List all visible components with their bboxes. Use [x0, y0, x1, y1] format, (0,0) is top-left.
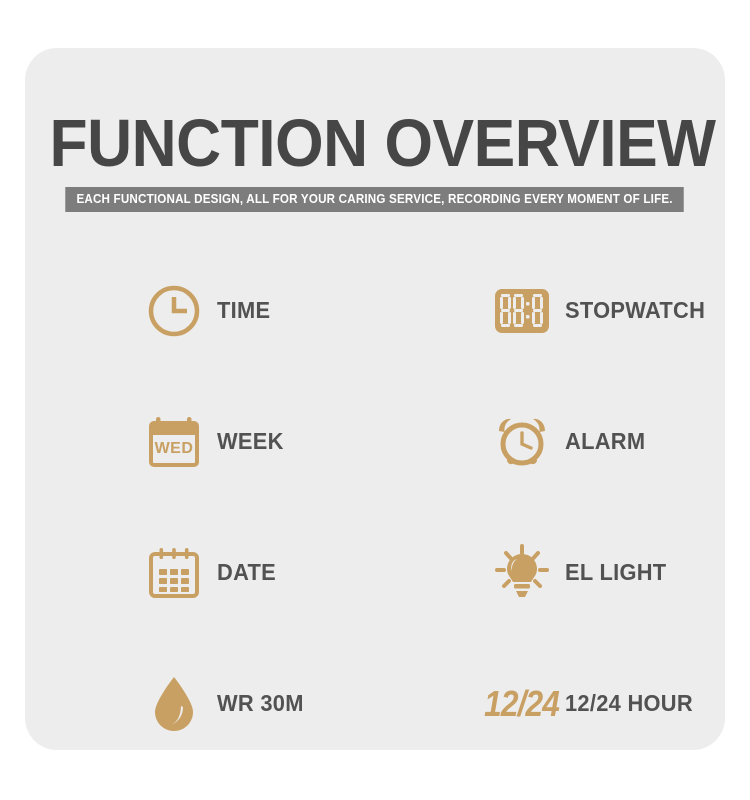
feature-item-el-light: EL LIGHT — [375, 507, 725, 638]
twelve-twentyfour-icon-text: 12/24 — [485, 686, 560, 722]
clock-icon — [145, 282, 203, 340]
feature-label: WR 30M — [217, 690, 304, 717]
function-overview-page: FUNCTION OVERVIEW EACH FUNCTIONAL DESIGN… — [0, 0, 750, 800]
feature-item-time: TIME — [25, 245, 375, 376]
page-title: FUNCTION OVERVIEW — [50, 110, 701, 177]
feature-item-week: WED WEEK — [25, 376, 375, 507]
lightbulb-icon — [493, 544, 551, 602]
alarm-clock-icon — [493, 413, 551, 471]
feature-label: 12/24 HOUR — [565, 690, 693, 717]
feature-grid: TIME — [25, 245, 725, 769]
feature-item-alarm: ALARM — [375, 376, 725, 507]
feature-label: TIME — [217, 297, 270, 324]
feature-item-water-resistance: WR 30M — [25, 638, 375, 769]
feature-card: FUNCTION OVERVIEW EACH FUNCTIONAL DESIGN… — [25, 48, 725, 750]
feature-label: STOPWATCH — [565, 297, 705, 324]
calendar-date-icon — [145, 544, 203, 602]
svg-text:WED: WED — [155, 440, 194, 457]
water-drop-icon — [145, 675, 203, 733]
feature-item-12-24-hour: 12/24 12/24 HOUR — [375, 638, 725, 769]
feature-label: WEEK — [217, 428, 284, 455]
subtitle-text: EACH FUNCTIONAL DESIGN, ALL FOR YOUR CAR… — [66, 187, 685, 212]
calendar-week-icon: WED — [145, 413, 203, 471]
feature-label: DATE — [217, 559, 276, 586]
stopwatch-icon — [493, 282, 551, 340]
feature-label: ALARM — [565, 428, 645, 455]
twelve-twentyfour-icon: 12/24 — [493, 675, 551, 733]
feature-label: EL LIGHT — [565, 559, 666, 586]
feature-item-date: DATE — [25, 507, 375, 638]
subtitle-bar: EACH FUNCTIONAL DESIGN, ALL FOR YOUR CAR… — [25, 187, 725, 212]
feature-item-stopwatch: STOPWATCH — [375, 245, 725, 376]
